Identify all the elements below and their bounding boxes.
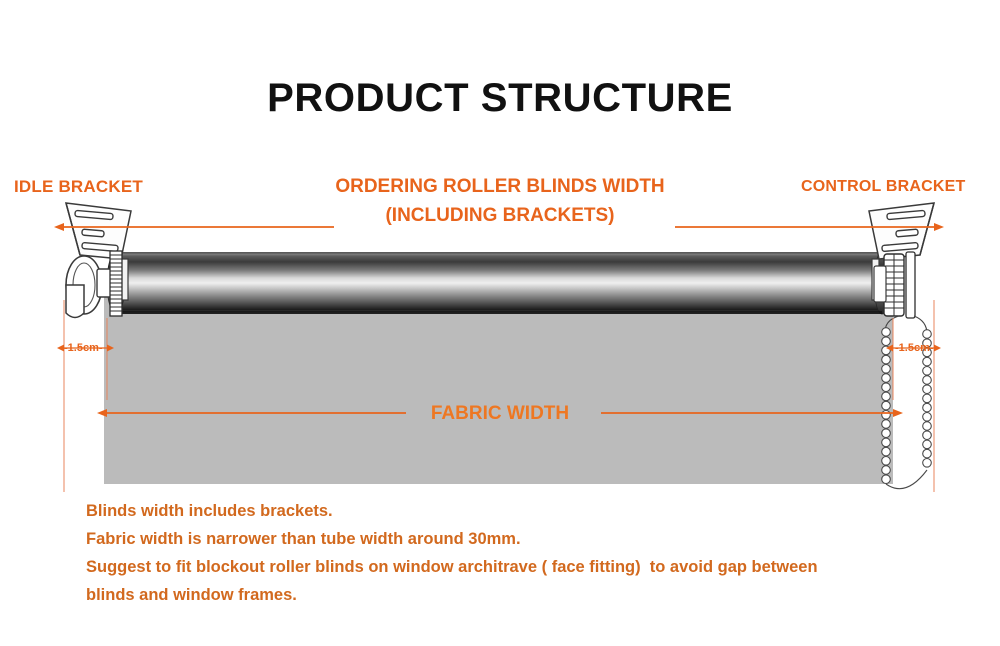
ordering-width-label-line1: ORDERING ROLLER BLINDS WIDTH: [0, 176, 1000, 198]
gap-dimension-right-value: -1.5cm-: [895, 342, 934, 354]
note-line-4: blinds and window frames.: [86, 581, 966, 609]
note-line-3: Suggest to fit blockout roller blinds on…: [86, 553, 966, 581]
gap-dimension-left-value: -1.5cm-: [64, 342, 103, 354]
diagram-canvas: PRODUCT STRUCTURE IDLE BRACKET CONTROL B…: [0, 0, 1000, 646]
fabric-width-label: FABRIC WIDTH: [0, 403, 1000, 425]
note-line-2: Fabric width is narrower than tube width…: [86, 525, 966, 553]
page-title: PRODUCT STRUCTURE: [0, 76, 1000, 121]
note-line-1: Blinds width includes brackets.: [86, 497, 966, 525]
roller-tube: [107, 252, 890, 314]
fabric-panel: [104, 290, 893, 484]
notes-block: Blinds width includes brackets. Fabric w…: [86, 497, 966, 609]
ordering-width-label-line2: (INCLUDING BRACKETS): [0, 205, 1000, 227]
